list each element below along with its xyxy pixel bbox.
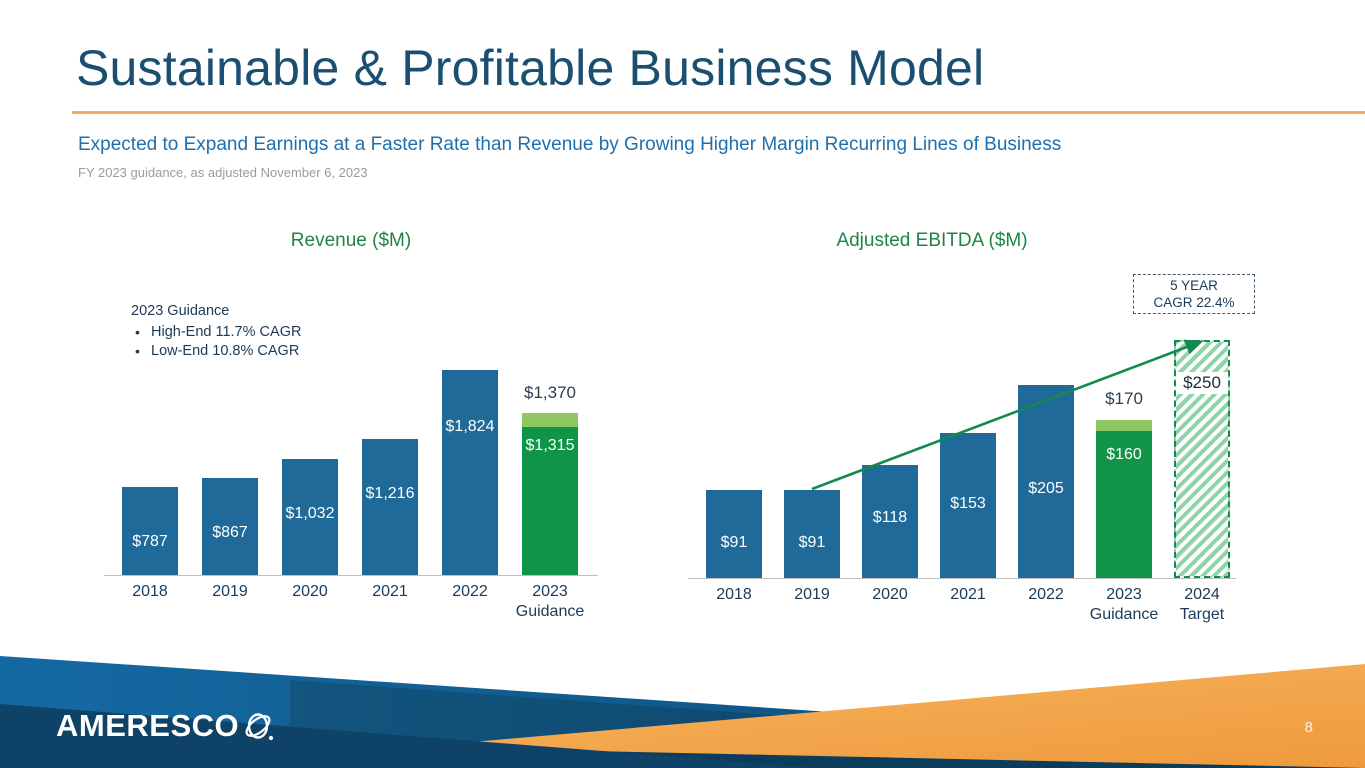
title-divider [72, 111, 1365, 114]
bar-revenue-2023-range-cap [522, 413, 578, 427]
footer-decoration [0, 638, 1365, 768]
ameresco-logo: AMERESCO [56, 708, 277, 744]
bar-value-revenue-2022: $1,824 [442, 418, 498, 436]
bar-value-ebitda-2021: $153 [940, 495, 996, 513]
xtick-ebitda-2021: 2021 [940, 585, 996, 605]
bar-revenue-2021: $1,216 [362, 439, 418, 575]
xtick-sublabel: Guidance [1078, 605, 1170, 625]
xtick-revenue-2022: 2022 [442, 582, 498, 602]
xtick-revenue-2020: 2020 [282, 582, 338, 602]
page-subtitle: Expected to Expand Earnings at a Faster … [78, 134, 1061, 156]
bar-revenue-2022: $1,824 [442, 370, 498, 575]
xtick-ebitda-2023: 2023 Guidance [1078, 585, 1170, 625]
cagr-callout-box: 5 YEAR CAGR 22.4% [1133, 274, 1255, 314]
bar-ebitda-2018: $91 [706, 490, 762, 578]
xtick-ebitda-2018: 2018 [706, 585, 762, 605]
slide-footer: AMERESCO 8 [0, 638, 1365, 768]
xtick-sublabel: Guidance [510, 602, 590, 622]
guidance-note-bullet-low: Low-End 10.8% CAGR [131, 342, 301, 361]
bar-ebitda-2024-target: $250 [1174, 340, 1230, 578]
bar-ebitda-2023-guidance: $160 $170 [1096, 431, 1152, 578]
bar-revenue-2023-guidance: $1,315 $1,370 [522, 427, 578, 575]
bar-value-revenue-2019: $867 [202, 524, 258, 542]
xtick-label: 2023 [1106, 586, 1142, 603]
revenue-chart: Revenue ($M) $787 $867 $1,032 $1,216 $1,… [96, 220, 626, 640]
bar-value-ebitda-2023: $160 [1096, 446, 1152, 464]
bar-value-ebitda-2019: $91 [784, 534, 840, 552]
ebitda-x-axis [688, 578, 1236, 579]
xtick-label: 2020 [292, 583, 328, 600]
cagr-callout-line1: 5 YEAR [1170, 277, 1218, 294]
xtick-ebitda-2020: 2020 [862, 585, 918, 605]
revenue-plot-area: $787 $867 $1,032 $1,216 $1,824 $1,315 $1… [96, 220, 626, 640]
xtick-label: 2018 [132, 583, 168, 600]
xtick-ebitda-2022: 2022 [1018, 585, 1074, 605]
page-number: 8 [1305, 719, 1313, 736]
bar-value-revenue-2023: $1,315 [522, 437, 578, 455]
bar-revenue-2020: $1,032 [282, 459, 338, 575]
xtick-revenue-2019: 2019 [202, 582, 258, 602]
bar-value-revenue-2021: $1,216 [362, 485, 418, 503]
xtick-label: 2024 [1184, 586, 1220, 603]
xtick-label: 2019 [212, 583, 248, 600]
bar-value-revenue-2018: $787 [122, 533, 178, 551]
xtick-ebitda-2019: 2019 [784, 585, 840, 605]
xtick-label: 2023 [532, 583, 568, 600]
guidance-note-bullet-high: High-End 11.7% CAGR [131, 323, 301, 342]
bar-revenue-2018: $787 [122, 487, 178, 575]
bar-ebitda-2019: $91 [784, 490, 840, 578]
bar-ebitda-2021: $153 [940, 433, 996, 578]
guidance-note-list: High-End 11.7% CAGR Low-End 10.8% CAGR [131, 323, 301, 361]
bar-ebitda-2022: $205 [1018, 385, 1074, 578]
bar-value-ebitda-2024: $250 [1176, 372, 1228, 394]
bar-value-ebitda-2022: $205 [1018, 480, 1074, 498]
cagr-callout-line2: CAGR 22.4% [1153, 294, 1234, 311]
xtick-label: 2022 [1028, 586, 1064, 603]
xtick-label: 2020 [872, 586, 908, 603]
bar-ebitda-2023-range-cap [1096, 420, 1152, 431]
bar-range-ebitda-2023: $170 [1096, 389, 1152, 409]
xtick-revenue-2021: 2021 [362, 582, 418, 602]
xtick-revenue-2018: 2018 [122, 582, 178, 602]
ameresco-orbit-icon [241, 708, 277, 744]
bar-revenue-2019: $867 [202, 478, 258, 575]
guidance-note-title: 2023 Guidance [131, 302, 301, 321]
bar-value-ebitda-2020: $118 [862, 509, 918, 527]
xtick-ebitda-2024: 2024 Target [1164, 585, 1240, 625]
page-footnote: FY 2023 guidance, as adjusted November 6… [78, 165, 368, 180]
bar-value-ebitda-2018: $91 [706, 534, 762, 552]
xtick-label: 2019 [794, 586, 830, 603]
xtick-revenue-2023: 2023 Guidance [510, 582, 590, 622]
xtick-sublabel: Target [1164, 605, 1240, 625]
xtick-label: 2021 [950, 586, 986, 603]
xtick-label: 2021 [372, 583, 408, 600]
revenue-x-axis [104, 575, 598, 576]
logo-wordmark: AMERESCO [56, 708, 239, 744]
bar-value-revenue-2020: $1,032 [282, 505, 338, 523]
xtick-label: 2018 [716, 586, 752, 603]
bar-range-revenue-2023: $1,370 [522, 383, 578, 403]
bar-ebitda-2020: $118 [862, 465, 918, 578]
revenue-guidance-note: 2023 Guidance High-End 11.7% CAGR Low-En… [131, 302, 301, 361]
page-title: Sustainable & Profitable Business Model [76, 38, 984, 98]
xtick-label: 2022 [452, 583, 488, 600]
